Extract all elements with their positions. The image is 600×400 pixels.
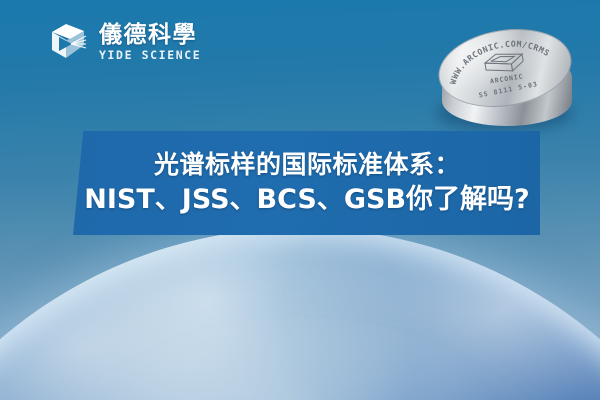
headline-line-1: 光谱标样的国际标准体系： — [154, 148, 460, 182]
brand-name-en: YIDE SCIENCE — [99, 49, 201, 62]
earth-atmosphere-limb — [0, 228, 600, 400]
yide-cube-arrow-logo-icon — [46, 20, 90, 64]
headline-line-2: NIST、JSS、BCS、GSB你了解吗? — [84, 182, 529, 218]
metal-crm-disc-image: WWW.ARCONIC.COM/CRMS ARCONIC SS 8111 5-0… — [428, 22, 586, 144]
brand-logo[interactable]: 儀德科學 YIDE SCIENCE — [46, 20, 201, 64]
brand-name-cn: 儀德科學 — [99, 23, 201, 48]
brand-logo-text: 儀德科學 YIDE SCIENCE — [99, 23, 201, 62]
headline-text-block: 光谱标样的国际标准体系： NIST、JSS、BCS、GSB你了解吗? — [62, 133, 552, 233]
poster-canvas: 儀德科學 YIDE SCIENCE WWW.ARCONIC.COM/CRMS — [0, 0, 600, 400]
earth-background — [0, 210, 600, 400]
